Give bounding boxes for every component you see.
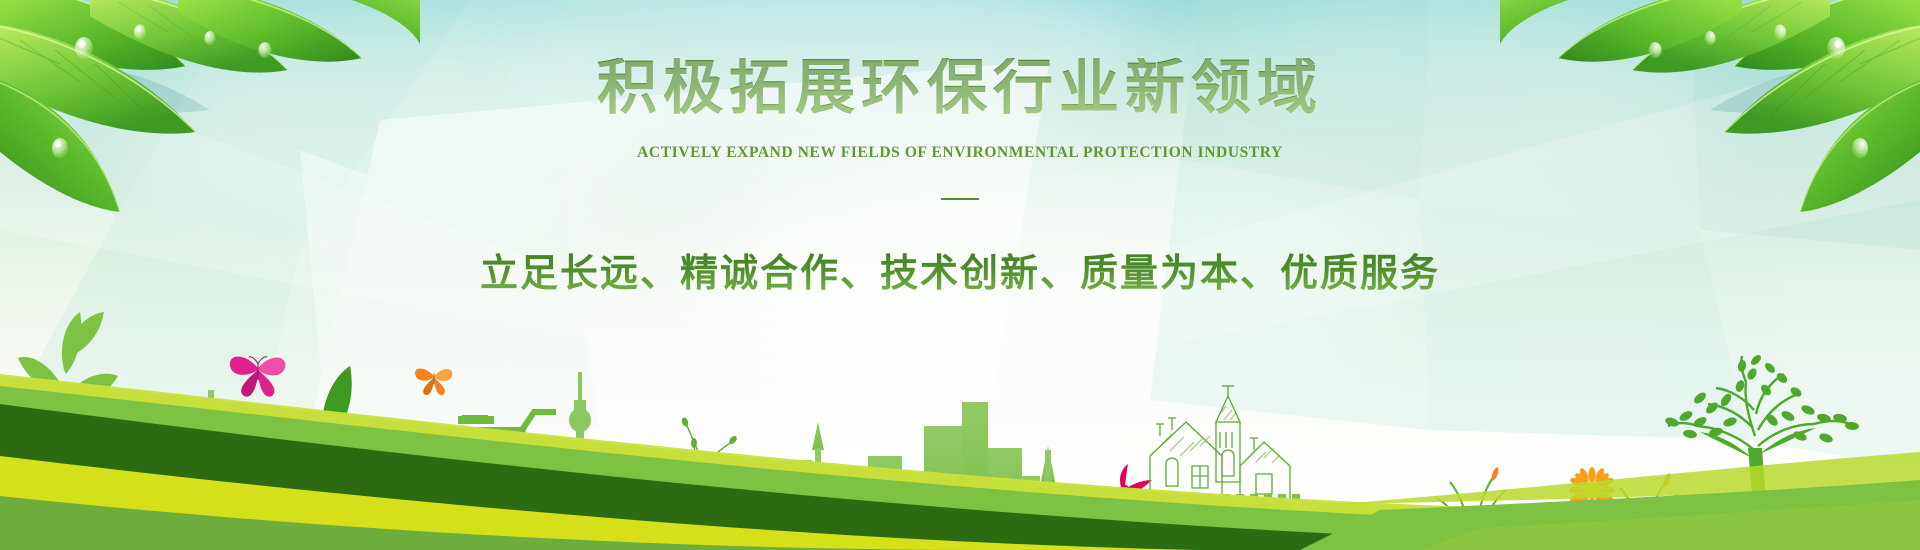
flower-orange bbox=[202, 492, 235, 525]
butterfly-magenta bbox=[230, 357, 286, 397]
hummingbird bbox=[1100, 464, 1152, 516]
city-skyline-right bbox=[700, 402, 1086, 530]
castle-base-windows bbox=[1146, 510, 1273, 519]
wave-bands bbox=[0, 360, 1920, 550]
leaf-sprig bbox=[768, 486, 840, 522]
leaf-sprout-plant bbox=[262, 366, 376, 526]
eco-banner: 积极拓展环保行业新领域 ACTIVELY EXPAND NEW FIELDS O… bbox=[0, 0, 1920, 550]
castle-gate bbox=[1186, 507, 1212, 532]
ladybug bbox=[1002, 525, 1014, 539]
title-divider bbox=[941, 198, 979, 200]
sunflower bbox=[1564, 467, 1620, 536]
page-tagline: 立足长远、精诚合作、技术创新、质量为本、优质服务 bbox=[0, 242, 1920, 297]
headline-block: 积极拓展环保行业新领域 ACTIVELY EXPAND NEW FIELDS O… bbox=[0, 58, 1920, 297]
seedhead-buds bbox=[658, 417, 745, 515]
city-skyline-left bbox=[118, 390, 386, 522]
grass-tufts bbox=[284, 482, 334, 522]
leafy-tree-right bbox=[1664, 353, 1859, 532]
city-window-dots bbox=[213, 425, 231, 447]
church-lineart bbox=[1150, 386, 1290, 502]
cattail-heads bbox=[1490, 467, 1672, 488]
flower-pink bbox=[1526, 506, 1551, 531]
oriental-pearl-tower bbox=[557, 372, 603, 526]
butterfly-orange bbox=[415, 369, 452, 396]
page-title: 积极拓展环保行业新领域 bbox=[0, 58, 1920, 118]
city-skyline-right-soft bbox=[1086, 488, 1132, 530]
bicycle bbox=[392, 412, 580, 522]
seedhead-plants bbox=[664, 424, 738, 528]
gear-flower bbox=[829, 497, 847, 515]
castle-base bbox=[1132, 494, 1300, 532]
bicycle-details bbox=[420, 416, 560, 526]
cattail-grass bbox=[1436, 476, 1678, 536]
grass-tufts bbox=[125, 441, 198, 512]
page-subtitle: ACTIVELY EXPAND NEW FIELDS OF ENVIRONMEN… bbox=[0, 144, 1920, 162]
sapling-tree-left bbox=[6, 312, 124, 510]
flower-pink-small bbox=[869, 525, 891, 547]
